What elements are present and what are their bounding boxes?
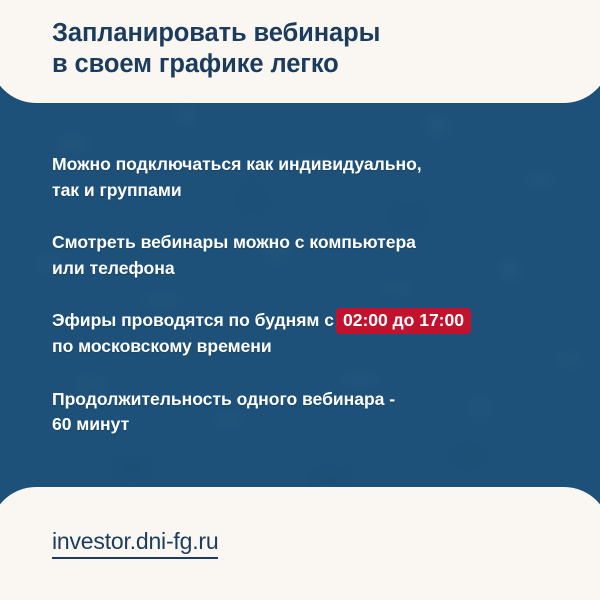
info-block-participation: Можно подключаться как индивидуально, та… [52,152,584,203]
info-block-schedule-line-2: по московскому времени [52,334,584,360]
info-block-participation-line-2: так и группами [52,178,584,204]
promo-poster: Запланировать вебинары в своем графике л… [0,0,600,600]
info-block-schedule: Эфиры проводятся по будням с02:00 до 17:… [52,308,584,360]
body-content: Можно подключаться как индивидуально, та… [52,152,584,438]
info-block-duration-line-1: Продолжительность одного вебинара - [52,387,584,413]
info-block-duration-line-2: 60 минут [52,412,584,438]
page-title: Запланировать вебинары в своем графике л… [52,18,572,80]
info-block-duration: Продолжительность одного вебинара - 60 м… [52,387,584,438]
info-block-devices-line-1: Смотреть вебинары можно с компьютера [52,230,584,256]
info-block-devices: Смотреть вебинары можно с компьютера или… [52,230,584,281]
page-title-line-1: Запланировать вебинары [52,18,572,49]
status-badge-time-range: 02:00 до 17:00 [336,308,471,334]
info-block-participation-line-1: Можно подключаться как индивидуально, [52,152,584,178]
page-title-line-2: в своем графике легко [52,49,572,80]
website-url-link[interactable]: investor.dni-fg.ru [52,528,218,559]
info-block-devices-line-2: или телефона [52,256,584,282]
info-block-schedule-line-1: Эфиры проводятся по будням с02:00 до 17:… [52,308,584,334]
schedule-text-prefix: Эфиры проводятся по будням с [52,310,334,330]
